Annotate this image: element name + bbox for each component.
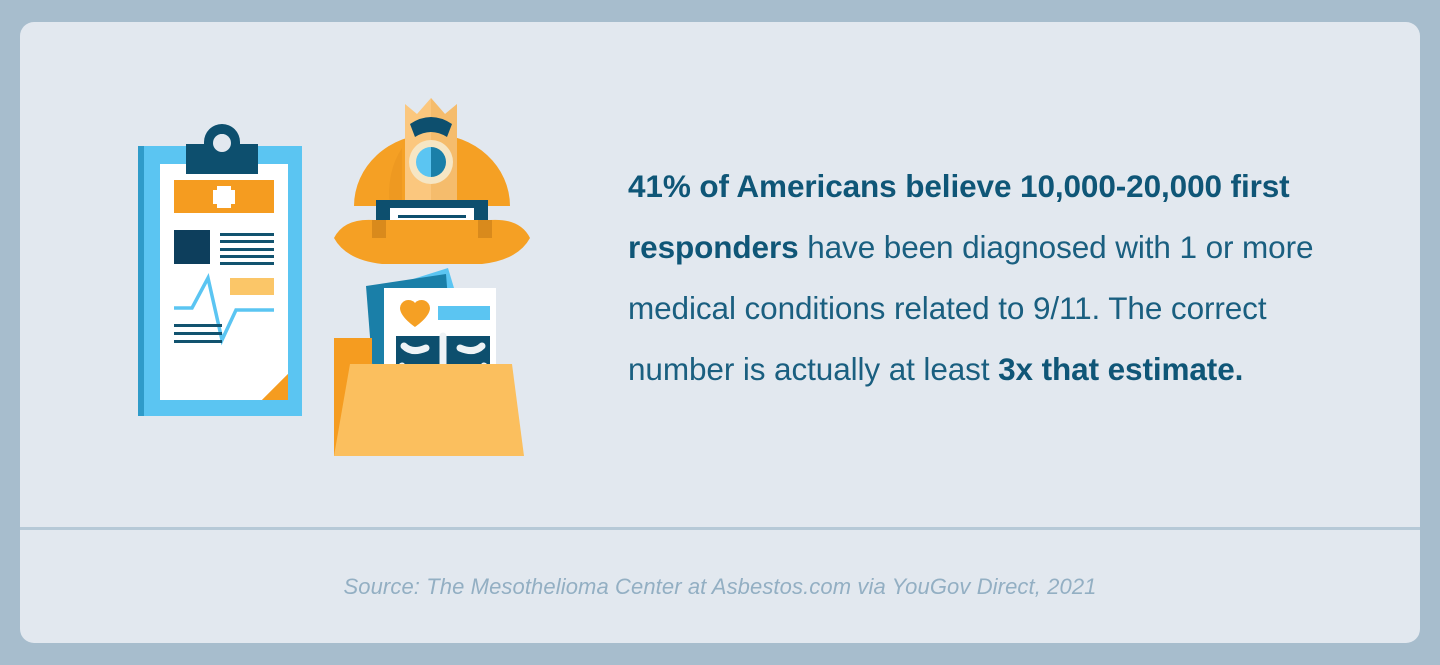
firefighter-helmet-icon <box>334 98 530 264</box>
statistic-text: 41% of Americans believe 10,000-20,000 f… <box>628 156 1368 400</box>
medical-records-folder-icon <box>334 268 524 456</box>
infographic-stage: 41% of Americans believe 10,000-20,000 f… <box>0 0 1440 665</box>
source-attribution: Source: The Mesothelioma Center at Asbes… <box>343 574 1096 600</box>
clipboard-clip <box>186 124 258 174</box>
statistic-emphasis-bold: 3x that estimate. <box>998 351 1243 387</box>
medical-clipboard-icon <box>138 124 302 416</box>
card-footer: Source: The Mesothelioma Center at Asbes… <box>20 530 1420 643</box>
illustration-group <box>100 82 600 482</box>
statistic-card: 41% of Americans believe 10,000-20,000 f… <box>20 22 1420 643</box>
card-body: 41% of Americans believe 10,000-20,000 f… <box>20 22 1420 527</box>
